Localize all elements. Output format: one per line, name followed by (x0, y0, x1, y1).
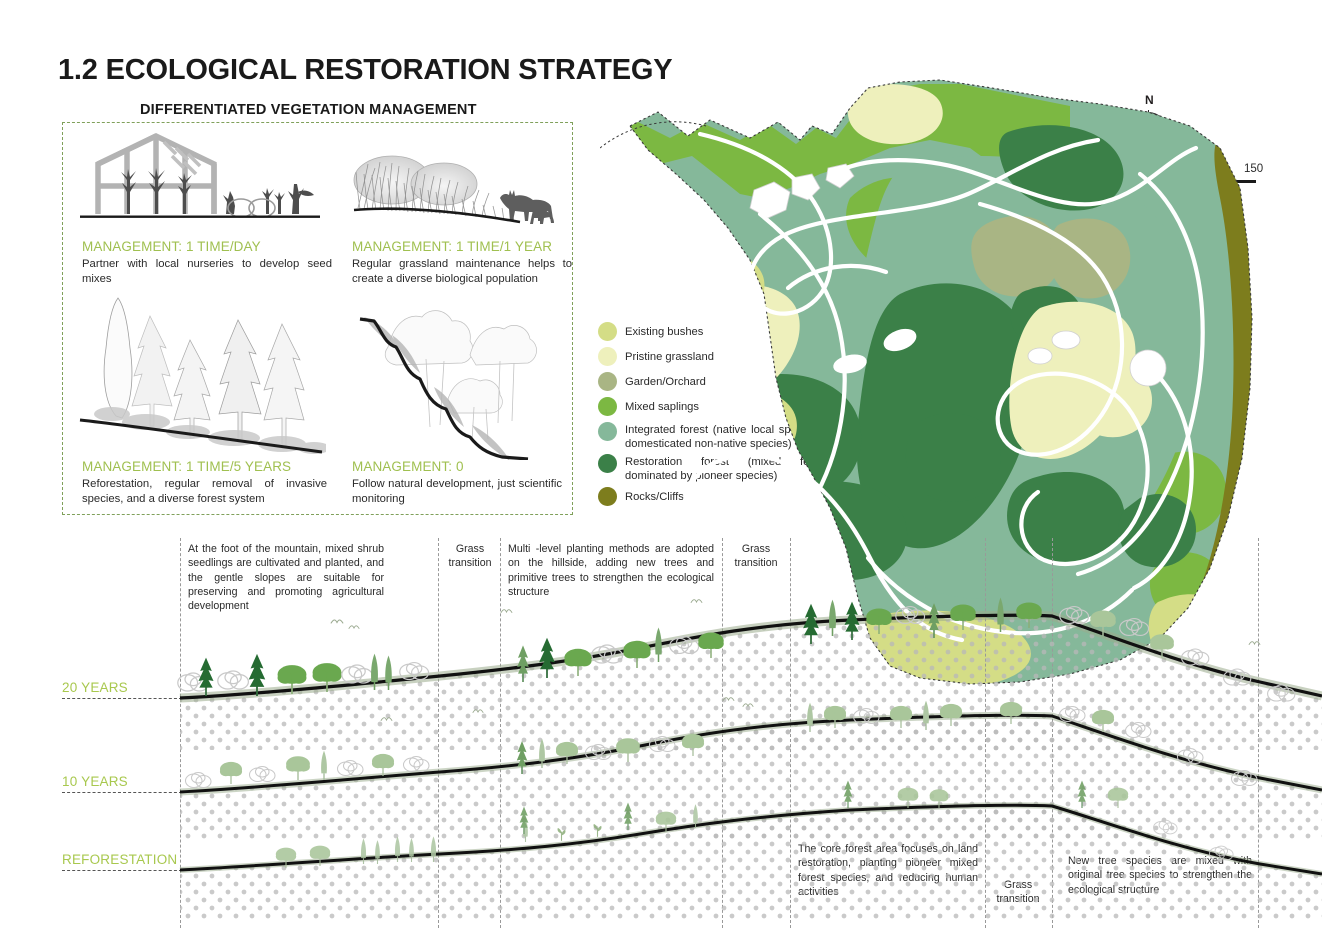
management-label-3: MANAGEMENT: 1 TIME/5 YEARS Reforestation… (82, 459, 327, 507)
restoration-timeline-sections: At the foot of the mountain, mixed shrub… (0, 520, 1322, 935)
management-desc-1: Partner with local nurseries to develop … (82, 257, 332, 287)
greenhouse-nursery-icon (80, 130, 320, 222)
management-label-1: MANAGEMENT: 1 TIME/DAY Partner with loca… (82, 239, 332, 287)
management-title-1: MANAGEMENT: 1 TIME/DAY (82, 239, 332, 254)
page-title: 1.2 ECOLOGICAL RESTORATION STRATEGY (58, 54, 672, 87)
map-region-restoration-forest (906, 413, 1001, 502)
management-title-2: MANAGEMENT: 1 TIME/1 YEAR (352, 239, 572, 254)
management-title-4: MANAGEMENT: 0 (352, 459, 562, 474)
management-label-2: MANAGEMENT: 1 TIME/1 YEAR Regular grassl… (352, 239, 572, 287)
management-title-3: MANAGEMENT: 1 TIME/5 YEARS (82, 459, 327, 474)
management-desc-4: Follow natural development, just scienti… (352, 477, 562, 507)
map-region-pristine-grassland (848, 84, 943, 144)
steep-cliff-vegetation-icon (352, 295, 568, 460)
grassland-grazing-cattle-icon (352, 148, 564, 228)
management-label-4: MANAGEMENT: 0 Follow natural development… (352, 459, 562, 507)
conifer-forest-icon (78, 292, 326, 458)
management-desc-3: Reforestation, regular removal of invasi… (82, 477, 327, 507)
management-desc-2: Regular grassland maintenance helps to c… (352, 257, 572, 287)
section-profiles-svg (0, 520, 1322, 935)
page-subtitle: DIFFERENTIATED VEGETATION MANAGEMENT (140, 102, 477, 118)
